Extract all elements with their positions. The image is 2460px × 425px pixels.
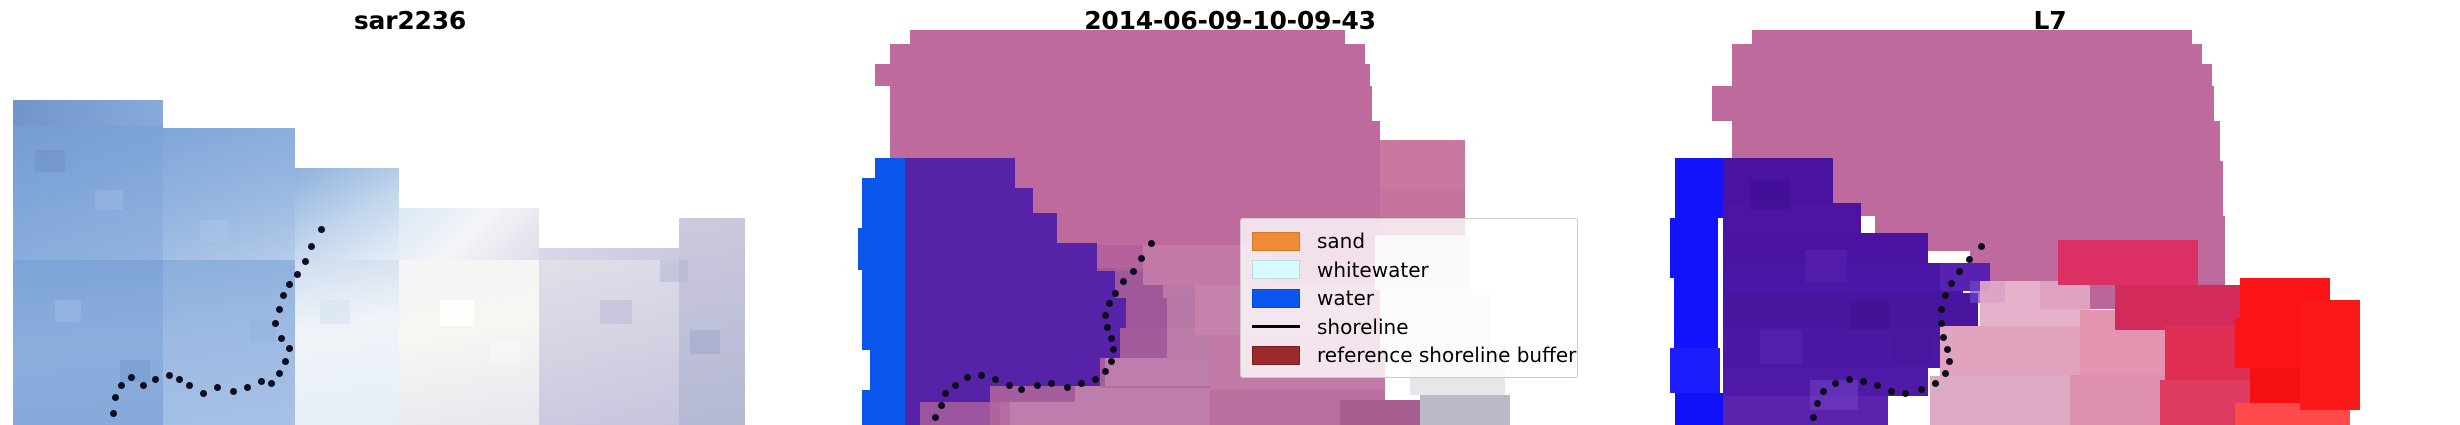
legend-label-sand: sand xyxy=(1317,231,1365,251)
shoreline-dot xyxy=(1820,388,1827,395)
shoreline-dot xyxy=(1110,346,1117,353)
shoreline-dot xyxy=(1944,346,1951,353)
figure-canvas: sar2236 xyxy=(0,0,2460,425)
shoreline-dot xyxy=(308,243,315,250)
shoreline-dot xyxy=(1948,280,1955,287)
legend-label-whitewater: whitewater xyxy=(1317,260,1429,280)
shoreline-dot xyxy=(166,372,173,379)
legend-box: sand whitewater water shoreline referenc xyxy=(1240,218,1578,378)
shoreline-dot xyxy=(938,402,945,409)
shoreline-dot xyxy=(1108,358,1115,365)
legend-item-sand: sand xyxy=(1252,228,1566,254)
panel-l7: L7 xyxy=(1640,0,2460,425)
shoreline-dot xyxy=(1832,380,1839,387)
shoreline-dot xyxy=(1966,256,1973,263)
shoreline-dot xyxy=(1078,380,1085,387)
shoreline-dot xyxy=(272,320,279,327)
shoreline-dot xyxy=(1064,384,1071,391)
shoreline-dot xyxy=(112,394,119,401)
shoreline-dot xyxy=(1942,370,1949,377)
shoreline-dot xyxy=(282,358,289,365)
shoreline-dot xyxy=(276,370,283,377)
shoreline-dot xyxy=(302,258,309,265)
water-swatch-icon xyxy=(1252,289,1300,308)
shoreline-dot xyxy=(992,376,999,383)
shoreline-dot xyxy=(118,382,125,389)
legend-label-water: water xyxy=(1317,288,1374,308)
shoreline-dot xyxy=(200,390,207,397)
shoreline-dot xyxy=(1938,306,1945,313)
shoreline-dot xyxy=(1034,382,1041,389)
shoreline-dot xyxy=(1148,240,1155,247)
l7-raster xyxy=(1640,0,2460,425)
shoreline-dot xyxy=(294,271,301,278)
classification-raster: sand whitewater water shoreline referenc xyxy=(820,0,1640,425)
shoreline-dot xyxy=(1902,390,1909,397)
shoreline-dot xyxy=(214,384,221,391)
reference-buffer-swatch-icon xyxy=(1252,346,1300,365)
shoreline-dot xyxy=(186,382,193,389)
legend-item-shoreline: shoreline xyxy=(1252,314,1566,340)
shoreline-dot xyxy=(286,281,293,288)
sar-raster xyxy=(0,0,820,425)
legend-label-shoreline: shoreline xyxy=(1317,317,1409,337)
shoreline-dot xyxy=(230,388,237,395)
shoreline-dot xyxy=(1810,414,1817,421)
shoreline-dot xyxy=(286,345,293,352)
shoreline-dot xyxy=(1048,380,1055,387)
shoreline-dot xyxy=(258,378,265,385)
shoreline-dot xyxy=(1138,255,1145,262)
legend-item-water: water xyxy=(1252,285,1566,311)
shoreline-dot xyxy=(964,374,971,381)
legend-item-whitewater: whitewater xyxy=(1252,257,1566,283)
shoreline-dot xyxy=(1946,358,1953,365)
shoreline-dot xyxy=(932,414,939,421)
shoreline-dot xyxy=(1102,312,1109,319)
shoreline-dot xyxy=(1120,278,1127,285)
shoreline-dot xyxy=(128,374,135,381)
sand-swatch-icon xyxy=(1252,232,1300,251)
shoreline-dot xyxy=(1130,268,1137,275)
shoreline-dot xyxy=(1112,290,1119,297)
shoreline-dot xyxy=(1108,335,1115,342)
shoreline-dot xyxy=(1860,378,1867,385)
shoreline-dot xyxy=(244,384,251,391)
shoreline-dot xyxy=(1814,400,1821,407)
shoreline-dot xyxy=(318,226,325,233)
shoreline-dot xyxy=(1874,382,1881,389)
legend-label-reference-shoreline-buffer: reference shoreline buffer xyxy=(1317,345,1576,365)
shoreline-dot xyxy=(1102,368,1109,375)
shoreline-dot xyxy=(268,380,275,387)
shoreline-dot xyxy=(1006,382,1013,389)
shoreline-dot xyxy=(1092,376,1099,383)
shoreline-dot xyxy=(1938,320,1945,327)
shoreline-dot xyxy=(110,410,117,417)
shoreline-dot xyxy=(1956,268,1963,275)
shoreline-dot xyxy=(1888,388,1895,395)
whitewater-swatch-icon xyxy=(1252,260,1300,279)
shoreline-dot xyxy=(1932,380,1939,387)
shoreline-dot xyxy=(942,390,949,397)
shoreline-dot xyxy=(276,306,283,313)
shoreline-dot xyxy=(278,335,285,342)
shoreline-dot xyxy=(140,382,147,389)
panel-sar2236: sar2236 xyxy=(0,0,820,425)
shoreline-dot xyxy=(978,372,985,379)
shoreline-dot xyxy=(1846,376,1853,383)
shoreline-dot xyxy=(280,292,287,299)
shoreline-dot xyxy=(152,376,159,383)
shoreline-dot xyxy=(1978,243,1985,250)
shoreline-dot xyxy=(1018,386,1025,393)
shoreline-dot xyxy=(1104,324,1111,331)
shoreline-dot xyxy=(1940,334,1947,341)
legend-item-reference-shoreline-buffer: reference shoreline buffer xyxy=(1252,342,1566,368)
shoreline-dot xyxy=(1918,386,1925,393)
shoreline-dot xyxy=(176,376,183,383)
shoreline-dot xyxy=(1106,300,1113,307)
shoreline-dot xyxy=(952,382,959,389)
panel-classification: 2014-06-09-10-09-43 xyxy=(820,0,1640,425)
shoreline-dot xyxy=(1942,292,1949,299)
shoreline-line-icon xyxy=(1252,325,1300,328)
